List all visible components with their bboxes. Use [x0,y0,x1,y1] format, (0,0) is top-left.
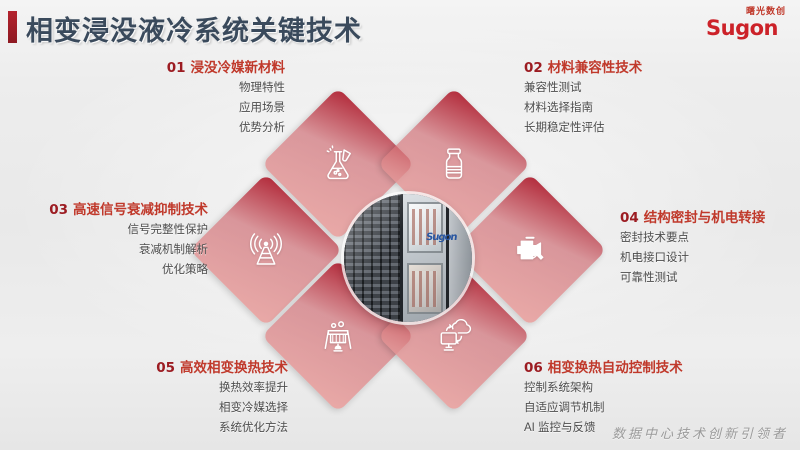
block-04-heading: 04结构密封与机电转接 [620,208,800,228]
block-05-title: 高效相变换热技术 [180,360,288,375]
header: 相变浸没液冷系统关键技术 曙光数创 Sugon [0,0,800,52]
logo-english-text: Sugon [694,17,790,39]
block-01-number: 01 [167,60,186,76]
title-accent-bar [8,11,17,43]
block-01-title: 浸没冷媒新材料 [191,60,286,75]
block-01-item-1: 物理特性 [60,78,285,98]
block-02-heading: 02材料兼容性技术 [524,58,754,78]
block-05-item-2: 相变冷媒选择 [48,398,288,418]
block-02-number: 02 [524,60,543,76]
block-06-item-1: 控制系统架构 [524,378,764,398]
block-01: 01浸没冷媒新材料 物理特性 应用场景 优势分析 [60,58,285,138]
block-01-item-3: 优势分析 [60,118,285,138]
photo-glare [344,194,472,322]
block-02-item-1: 兼容性测试 [524,78,754,98]
block-05-number: 05 [156,360,175,376]
block-01-heading: 01浸没冷媒新材料 [60,58,285,78]
block-04-title: 结构密封与机电转接 [644,210,766,225]
block-02: 02材料兼容性技术 兼容性测试 材料选择指南 长期稳定性评估 [524,58,754,138]
block-04: 04结构密封与机电转接 密封技术要点 机电接口设计 可靠性测试 [620,208,800,288]
block-03-item-3: 优化策略 [0,260,208,280]
logo: 曙光数创 Sugon [694,6,790,39]
block-03: 03高速信号衰减抑制技术 信号完整性保护 衰减机制解析 优化策略 [0,200,208,280]
center-photo: Sugon [344,194,472,322]
block-03-title: 高速信号衰减抑制技术 [73,202,208,217]
block-06-item-2: 自适应调节机制 [524,398,764,418]
block-05-heading: 05高效相变换热技术 [48,358,288,378]
block-04-item-2: 机电接口设计 [620,248,800,268]
block-05-item-1: 换热效率提升 [48,378,288,398]
block-04-item-1: 密封技术要点 [620,228,800,248]
block-01-item-2: 应用场景 [60,98,285,118]
watermark: 数据中心技术创新引领者 [612,423,788,442]
block-02-title: 材料兼容性技术 [548,60,643,75]
block-02-item-3: 长期稳定性评估 [524,118,754,138]
block-04-number: 04 [620,210,639,226]
block-06-title: 相变换热自动控制技术 [548,360,683,375]
block-03-item-1: 信号完整性保护 [0,220,208,240]
page-title: 相变浸没液冷系统关键技术 [26,9,362,48]
block-04-item-3: 可靠性测试 [620,268,800,288]
block-03-item-2: 衰减机制解析 [0,240,208,260]
block-05-item-3: 系统优化方法 [48,418,288,438]
block-03-heading: 03高速信号衰减抑制技术 [0,200,208,220]
block-05: 05高效相变换热技术 换热效率提升 相变冷媒选择 系统优化方法 [48,358,288,438]
block-06-number: 06 [524,360,543,376]
block-03-number: 03 [49,202,68,218]
block-02-item-2: 材料选择指南 [524,98,754,118]
block-06-heading: 06相变换热自动控制技术 [524,358,764,378]
